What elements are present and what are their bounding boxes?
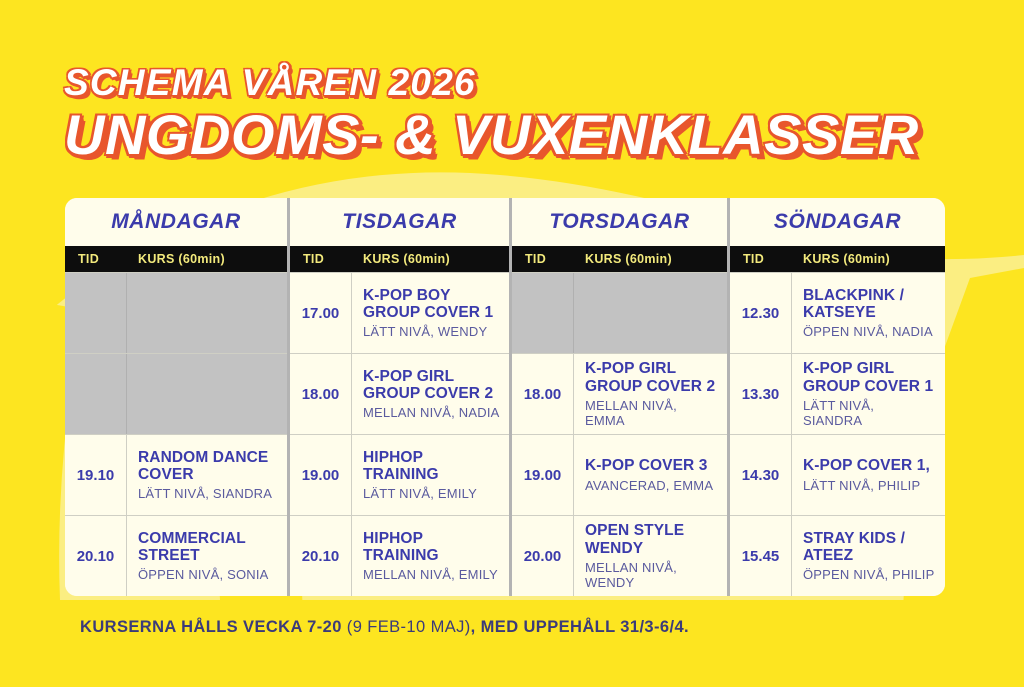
slot-course: K-POP COVER 3AVANCERAD, EMMA: [574, 435, 727, 515]
course-level-instructor: LÄTT NIVÅ, WENDY: [363, 324, 501, 339]
slot-time: [65, 273, 127, 353]
slot-course: HIPHOP TRAININGLÄTT NIVÅ, EMILY: [352, 435, 509, 515]
course-level-instructor: ÖPPEN NIVÅ, NADIA: [803, 324, 937, 339]
slot-time: 13.30: [730, 354, 792, 434]
course-level-instructor: MELLAN NIVÅ, EMILY: [363, 567, 501, 582]
subheader-course-label: KURS (60min): [127, 252, 287, 266]
slot-course: K-POP GIRL GROUP COVER 1LÄTT NIVÅ, SIAND…: [792, 354, 945, 434]
slot-time: 20.00: [512, 516, 574, 596]
schedule-slot[interactable]: 19.10RANDOM DANCE COVERLÄTT NIVÅ, SIANDR…: [65, 434, 287, 515]
course-name: K-POP BOY GROUP COVER 1: [363, 287, 501, 322]
day-column: TISDAGARTIDKURS (60min)17.00K-POP BOY GR…: [287, 198, 509, 596]
schedule-slot[interactable]: 20.10HIPHOP TRAININGMELLAN NIVÅ, EMILY: [290, 515, 509, 596]
column-subheader: TIDKURS (60min): [65, 246, 287, 272]
slot-time: [512, 273, 574, 353]
slot-course: K-POP GIRL GROUP COVER 2MELLAN NIVÅ, EMM…: [574, 354, 727, 434]
slot-course: [127, 354, 287, 434]
poster-content: SCHEMA VÅREN 2026 UNGDOMS- & VUXENKLASSE…: [0, 0, 1024, 687]
course-name: K-POP COVER 3: [585, 457, 719, 474]
slot-course: K-POP GIRL GROUP COVER 2MELLAN NIVÅ, NAD…: [352, 354, 509, 434]
slot-time: 15.45: [730, 516, 792, 596]
course-name: HIPHOP TRAINING: [363, 449, 501, 484]
schedule-slot[interactable]: 13.30K-POP GIRL GROUP COVER 1LÄTT NIVÅ, …: [730, 353, 945, 434]
course-name: BLACKPINK / KATSEYE: [803, 287, 937, 322]
slot-time: 19.10: [65, 435, 127, 515]
course-level-instructor: MELLAN NIVÅ, NADIA: [363, 405, 501, 420]
subheader-time-label: TID: [730, 252, 792, 266]
slot-course: RANDOM DANCE COVERLÄTT NIVÅ, SIANDRA: [127, 435, 287, 515]
slot-course: OPEN STYLE WENDYMELLAN NIVÅ, WENDY: [574, 516, 727, 596]
course-level-instructor: LÄTT NIVÅ, PHILIP: [803, 478, 937, 493]
course-name: HIPHOP TRAINING: [363, 530, 501, 565]
slot-time: 18.00: [290, 354, 352, 434]
schedule-slot[interactable]: 17.00K-POP BOY GROUP COVER 1LÄTT NIVÅ, W…: [290, 272, 509, 353]
day-column: SÖNDAGARTIDKURS (60min)12.30BLACKPINK / …: [727, 198, 945, 596]
day-column: MÅNDAGARTIDKURS (60min)19.10RANDOM DANCE…: [65, 198, 287, 596]
schedule-table: MÅNDAGARTIDKURS (60min)19.10RANDOM DANCE…: [65, 198, 945, 596]
schedule-slot[interactable]: 20.10COMMERCIAL STREETÖPPEN NIVÅ, SONIA: [65, 515, 287, 596]
subheader-course-label: KURS (60min): [574, 252, 727, 266]
course-name: K-POP COVER 1,: [803, 457, 937, 474]
course-level-instructor: AVANCERAD, EMMA: [585, 478, 719, 493]
course-name: K-POP GIRL GROUP COVER 1: [803, 360, 937, 395]
slot-course: [574, 273, 727, 353]
footer-note: KURSERNA HÅLLS VECKA 7-20 (9 FEB-10 MAJ)…: [80, 618, 689, 637]
schedule-slot[interactable]: 18.00K-POP GIRL GROUP COVER 2MELLAN NIVÅ…: [512, 353, 727, 434]
column-subheader: TIDKURS (60min): [730, 246, 945, 272]
subheader-course-label: KURS (60min): [792, 252, 945, 266]
slot-course: BLACKPINK / KATSEYEÖPPEN NIVÅ, NADIA: [792, 273, 945, 353]
course-level-instructor: MELLAN NIVÅ, WENDY: [585, 560, 719, 590]
schedule-slot[interactable]: 14.30K-POP COVER 1,LÄTT NIVÅ, PHILIP: [730, 434, 945, 515]
slot-course: K-POP COVER 1,LÄTT NIVÅ, PHILIP: [792, 435, 945, 515]
slot-time: [65, 354, 127, 434]
schedule-slot[interactable]: 19.00HIPHOP TRAININGLÄTT NIVÅ, EMILY: [290, 434, 509, 515]
course-level-instructor: MELLAN NIVÅ, EMMA: [585, 398, 719, 428]
slot-time: 18.00: [512, 354, 574, 434]
course-name: COMMERCIAL STREET: [138, 530, 279, 565]
poster-titles: SCHEMA VÅREN 2026 UNGDOMS- & VUXENKLASSE…: [64, 64, 919, 163]
course-name: OPEN STYLE WENDY: [585, 522, 719, 557]
slot-time: 17.00: [290, 273, 352, 353]
slot-time: 19.00: [290, 435, 352, 515]
column-subheader: TIDKURS (60min): [290, 246, 509, 272]
day-column: TORSDAGARTIDKURS (60min)18.00K-POP GIRL …: [509, 198, 727, 596]
slot-course: K-POP BOY GROUP COVER 1LÄTT NIVÅ, WENDY: [352, 273, 509, 353]
course-level-instructor: ÖPPEN NIVÅ, SONIA: [138, 567, 279, 582]
subheader-time-label: TID: [512, 252, 574, 266]
slot-time: 20.10: [65, 516, 127, 596]
day-header: TISDAGAR: [290, 198, 509, 246]
subheader-time-label: TID: [65, 252, 127, 266]
schedule-slot[interactable]: 18.00K-POP GIRL GROUP COVER 2MELLAN NIVÅ…: [290, 353, 509, 434]
footer-part-break: , MED UPPEHÅLL 31/3-6/4.: [471, 618, 689, 636]
page-title: UNGDOMS- & VUXENKLASSER: [64, 107, 919, 163]
slot-time: 12.30: [730, 273, 792, 353]
course-name: RANDOM DANCE COVER: [138, 449, 279, 484]
subheader-time-label: TID: [290, 252, 352, 266]
day-header: SÖNDAGAR: [730, 198, 945, 246]
course-name: K-POP GIRL GROUP COVER 2: [363, 368, 501, 403]
slot-course: STRAY KIDS / ATEEZÖPPEN NIVÅ, PHILIP: [792, 516, 945, 596]
poster-subtitle: SCHEMA VÅREN 2026: [64, 64, 919, 101]
slot-time: 20.10: [290, 516, 352, 596]
schedule-slot-empty: [512, 272, 727, 353]
schedule-slot[interactable]: 20.00OPEN STYLE WENDYMELLAN NIVÅ, WENDY: [512, 515, 727, 596]
footer-part-dates: (9 FEB-10 MAJ): [347, 618, 471, 636]
course-name: K-POP GIRL GROUP COVER 2: [585, 360, 719, 395]
day-header: MÅNDAGAR: [65, 198, 287, 246]
day-header: TORSDAGAR: [512, 198, 727, 246]
schedule-slot[interactable]: 15.45STRAY KIDS / ATEEZÖPPEN NIVÅ, PHILI…: [730, 515, 945, 596]
subheader-course-label: KURS (60min): [352, 252, 509, 266]
slot-time: 19.00: [512, 435, 574, 515]
course-level-instructor: ÖPPEN NIVÅ, PHILIP: [803, 567, 937, 582]
column-subheader: TIDKURS (60min): [512, 246, 727, 272]
schedule-slot[interactable]: 19.00K-POP COVER 3AVANCERAD, EMMA: [512, 434, 727, 515]
slot-time: 14.30: [730, 435, 792, 515]
slot-course: HIPHOP TRAININGMELLAN NIVÅ, EMILY: [352, 516, 509, 596]
schedule-slot-empty: [65, 272, 287, 353]
course-level-instructor: LÄTT NIVÅ, SIANDRA: [803, 398, 937, 428]
slot-course: [127, 273, 287, 353]
footer-part-weeks: KURSERNA HÅLLS VECKA 7-20: [80, 618, 342, 636]
course-level-instructor: LÄTT NIVÅ, SIANDRA: [138, 486, 279, 501]
course-level-instructor: LÄTT NIVÅ, EMILY: [363, 486, 501, 501]
slot-course: COMMERCIAL STREETÖPPEN NIVÅ, SONIA: [127, 516, 287, 596]
schedule-slot-empty: [65, 353, 287, 434]
schedule-slot[interactable]: 12.30BLACKPINK / KATSEYEÖPPEN NIVÅ, NADI…: [730, 272, 945, 353]
course-name: STRAY KIDS / ATEEZ: [803, 530, 937, 565]
